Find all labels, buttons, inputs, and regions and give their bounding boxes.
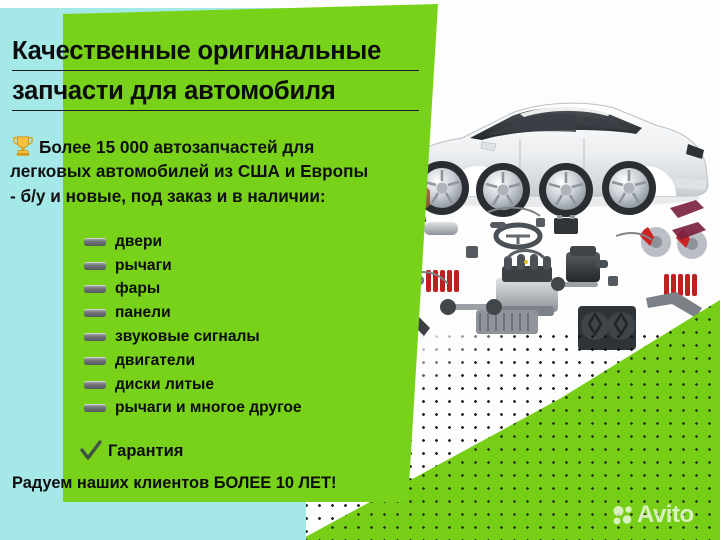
- dash-marker-icon: [84, 404, 106, 412]
- dash-marker-icon: [84, 333, 106, 341]
- list-item: рычаги и многое другое: [84, 397, 414, 421]
- trophy-icon: [10, 135, 36, 157]
- list-item-label: панели: [115, 304, 171, 322]
- list-item: диски литые: [84, 373, 414, 397]
- list-item: панели: [84, 301, 414, 325]
- parts-list: двери рычаги фары панели звуковые сигнал…: [84, 230, 414, 420]
- page-title: Качественные оригинальные запчасти для а…: [12, 34, 432, 114]
- dash-marker-icon: [84, 238, 106, 246]
- list-item-label: рычаги и многое другое: [115, 399, 302, 417]
- brake-disc: [640, 227, 671, 257]
- headline-line-1: Качественные оригинальные: [12, 34, 419, 71]
- dash-marker-icon: [84, 262, 106, 270]
- dash-marker-icon: [84, 285, 106, 293]
- air-filter-box: [566, 246, 608, 282]
- headline-line-2: запчасти для автомобиля: [12, 74, 419, 111]
- guarantee-label: Гарантия: [108, 442, 183, 461]
- advertisement-banner: Качественные оригинальные запчасти для а…: [0, 0, 720, 540]
- list-item-label: рычаги: [115, 257, 172, 275]
- list-item: двери: [84, 230, 414, 254]
- list-item-label: двери: [115, 233, 162, 251]
- list-item-label: звуковые сигналы: [115, 328, 260, 346]
- avito-brand-text: Avito: [637, 503, 694, 527]
- dash-marker-icon: [84, 309, 106, 317]
- list-item-label: диски литые: [115, 376, 214, 394]
- subheadline-line-1: Более 15 000 автозапчастей для: [10, 135, 430, 159]
- guarantee-row: Гарантия: [80, 440, 183, 462]
- list-item: звуковые сигналы: [84, 325, 414, 349]
- list-item-label: фары: [115, 280, 160, 298]
- list-item-label: двигатели: [115, 352, 195, 370]
- dash-marker-icon: [84, 357, 106, 365]
- subheadline-line-3: - б/у и новые, под заказ и в наличии:: [10, 184, 430, 208]
- subheadline-text-1: Более 15 000 автозапчастей для: [39, 137, 314, 157]
- tagline: Радуем наших клиентов БОЛЕЕ 10 ЛЕТ!: [12, 474, 336, 493]
- list-item: фары: [84, 278, 414, 302]
- check-mark-icon: [80, 440, 102, 462]
- dash-marker-icon: [84, 381, 106, 389]
- list-item: двигатели: [84, 349, 414, 373]
- ad-content: Качественные оригинальные запчасти для а…: [0, 0, 460, 540]
- subheadline-line-2: легковых автомобилей из США и Европы: [10, 159, 430, 183]
- avito-watermark: Avito: [612, 503, 694, 527]
- steering-wheel: [496, 225, 540, 247]
- subheadline: Более 15 000 автозапчастей для легковых …: [10, 135, 430, 208]
- list-item: рычаги: [84, 254, 414, 278]
- battery: [554, 215, 578, 234]
- coilover-spring: [664, 274, 697, 296]
- engine-block: [496, 251, 558, 317]
- avito-dots-icon: [612, 504, 634, 526]
